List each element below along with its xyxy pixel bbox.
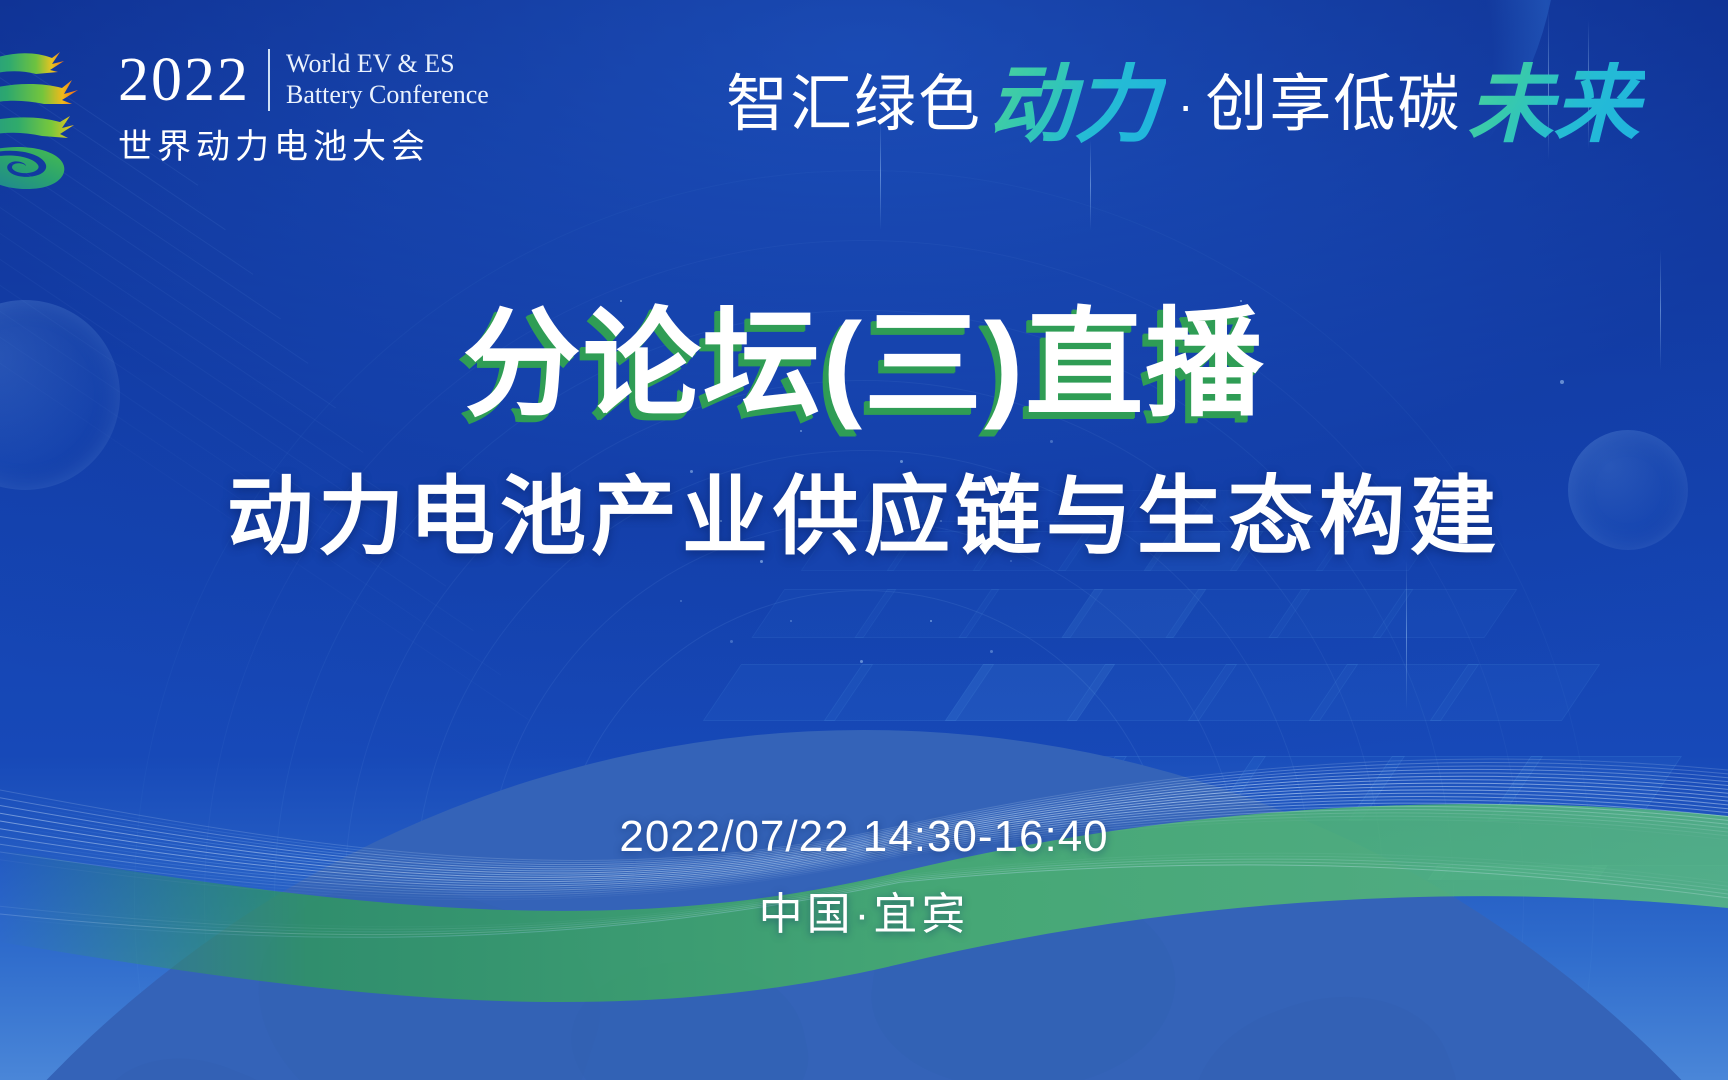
slogan-part1: 智汇绿色: [726, 74, 982, 136]
logo-year: 2022: [118, 49, 268, 111]
page-subtitle: 动力电池产业供应链与生态构建: [0, 470, 1728, 565]
slogan-art-weilai: 未来: [1461, 62, 1645, 148]
slogan-part2: 创享低碳: [1205, 74, 1461, 136]
globe-swoosh-icon: [0, 26, 112, 191]
logo-chinese-name: 世界动力电池大会: [118, 119, 489, 168]
conference-slogan: 智汇绿色 动力 · 创享低碳 未来: [726, 62, 1645, 148]
event-datetime: 2022/07/22 14:30-16:40: [0, 812, 1728, 862]
logo-divider: [268, 49, 270, 111]
logo-english-line2: Battery Conference: [286, 80, 489, 110]
conference-logo: 2022 World EV & ES Battery Conference 世界…: [0, 28, 489, 188]
conference-livestream-banner: 2022 World EV & ES Battery Conference 世界…: [0, 0, 1728, 1080]
slogan-separator: ·: [1166, 82, 1205, 128]
page-title: 分论坛(三)直播: [0, 302, 1728, 429]
event-location: 中国·宜宾: [0, 878, 1728, 942]
slogan-art-dongli: 动力: [982, 62, 1166, 148]
logo-english-name: World EV & ES Battery Conference: [286, 49, 489, 109]
logo-english-line1: World EV & ES: [286, 49, 489, 79]
